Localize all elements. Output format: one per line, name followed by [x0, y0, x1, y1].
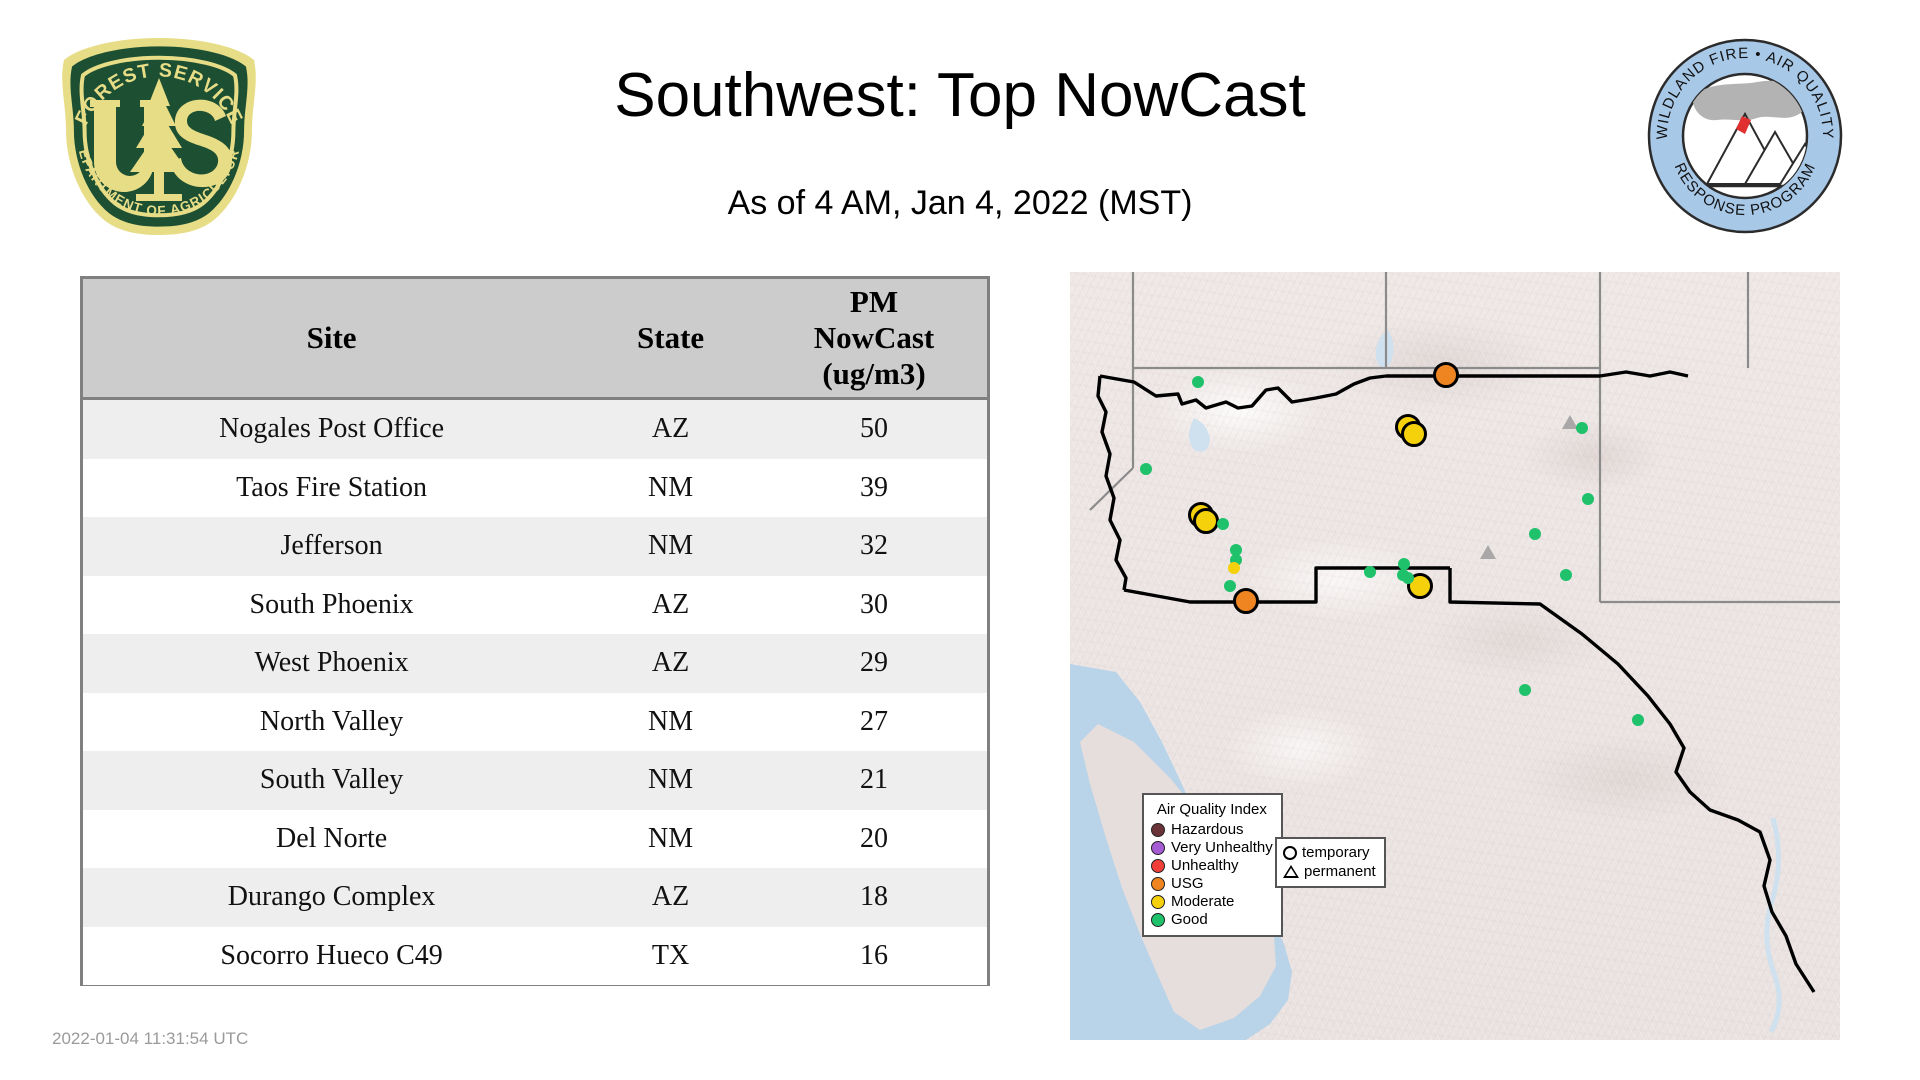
state-cell: AZ: [580, 868, 761, 927]
monitor-marker[interactable]: [1364, 566, 1376, 578]
legend-swatch-icon: [1151, 859, 1165, 873]
legend-swatch-icon: [1151, 877, 1165, 891]
legend-label: Moderate: [1171, 893, 1234, 911]
table-row: South PhoenixAZ30: [83, 576, 987, 635]
us-forest-service-shield-logo: FOREST SERVICE DEPARTMENT OF AGRICULTURE: [54, 34, 264, 239]
monitor-marker[interactable]: [1401, 421, 1427, 447]
site-cell: Nogales Post Office: [83, 399, 580, 459]
southwest-monitor-map[interactable]: Air Quality Index HazardousVery Unhealth…: [1070, 272, 1840, 1040]
pm-nowcast-cell: 50: [761, 399, 987, 459]
legend-row-unhealthy: Unhealthy: [1151, 857, 1273, 875]
table-row: Durango ComplexAZ18: [83, 868, 987, 927]
legend-row-hazardous: Hazardous: [1151, 821, 1273, 839]
monitor-marker[interactable]: [1582, 493, 1594, 505]
state-cell: TX: [580, 927, 761, 986]
monitor-marker[interactable]: [1228, 562, 1240, 574]
legend-row-temporary: temporary: [1283, 843, 1376, 862]
site-cell: Taos Fire Station: [83, 459, 580, 518]
legend-swatch-icon: [1151, 895, 1165, 909]
state-cell: NM: [580, 459, 761, 518]
table-row: South ValleyNM21: [83, 751, 987, 810]
column-header-site: Site: [83, 279, 580, 399]
pm-nowcast-cell: 18: [761, 868, 987, 927]
pm-nowcast-cell: 27: [761, 693, 987, 752]
legend-row-very-unhealthy: Very Unhealthy: [1151, 839, 1273, 857]
legend-title: Air Quality Index: [1151, 800, 1273, 819]
pm-nowcast-cell: 20: [761, 810, 987, 869]
pm-nowcast-cell: 16: [761, 927, 987, 986]
legend-label: Very Unhealthy: [1171, 839, 1273, 857]
page-title: Southwest: Top NowCast: [360, 58, 1560, 134]
monitor-marker[interactable]: [1632, 714, 1644, 726]
legend-label-permanent: permanent: [1304, 863, 1376, 881]
monitor-marker[interactable]: [1233, 588, 1259, 614]
legend-label: USG: [1171, 875, 1204, 893]
legend-label: Good: [1171, 911, 1208, 929]
monitor-marker[interactable]: [1576, 422, 1588, 434]
table-row: Del NorteNM20: [83, 810, 987, 869]
pm-header-line3: (ug/m3): [767, 356, 981, 392]
monitor-marker[interactable]: [1192, 376, 1204, 388]
monitor-marker[interactable]: [1519, 684, 1531, 696]
legend-row-usg: USG: [1151, 875, 1273, 893]
site-cell: Jefferson: [83, 517, 580, 576]
pm-header-line1: PM: [767, 284, 981, 320]
legend-row-permanent: permanent: [1283, 862, 1376, 881]
state-cell: AZ: [580, 576, 761, 635]
site-cell: Socorro Hueco C49: [83, 927, 580, 986]
monitor-marker[interactable]: [1193, 508, 1219, 534]
legend-swatch-icon: [1151, 841, 1165, 855]
legend-label-temporary: temporary: [1302, 844, 1370, 862]
wildland-fire-air-quality-response-program-logo: WILDLAND FIRE • AIR QUALITY RESPONSE PRO…: [1645, 36, 1845, 236]
pm-nowcast-cell: 30: [761, 576, 987, 635]
state-cell: NM: [580, 517, 761, 576]
pm-nowcast-cell: 21: [761, 751, 987, 810]
legend-row-moderate: Moderate: [1151, 893, 1273, 911]
state-cell: NM: [580, 751, 761, 810]
page-subtitle: As of 4 AM, Jan 4, 2022 (MST): [360, 182, 1560, 224]
monitor-marker[interactable]: [1402, 572, 1414, 584]
site-cell: Durango Complex: [83, 868, 580, 927]
water-lake-west: [1189, 418, 1210, 452]
state-cell: NM: [580, 693, 761, 752]
state-cell: AZ: [580, 399, 761, 459]
generation-timestamp: 2022-01-04 11:31:54 UTC: [52, 1028, 248, 1050]
column-header-pm-nowcast: PM NowCast (ug/m3): [761, 279, 987, 399]
pm-nowcast-cell: 32: [761, 517, 987, 576]
monitor-marker[interactable]: [1529, 528, 1541, 540]
table-row: West PhoenixAZ29: [83, 634, 987, 693]
table-row: JeffersonNM32: [83, 517, 987, 576]
monitor-marker[interactable]: [1224, 580, 1236, 592]
pm-nowcast-cell: 39: [761, 459, 987, 518]
triangle-outline-icon: [1283, 865, 1299, 878]
site-cell: Del Norte: [83, 810, 580, 869]
legend-swatch-icon: [1151, 823, 1165, 837]
table-row: Nogales Post OfficeAZ50: [83, 399, 987, 459]
pm-nowcast-cell: 29: [761, 634, 987, 693]
table-row: Taos Fire StationNM39: [83, 459, 987, 518]
table-row: Socorro Hueco C49TX16: [83, 927, 987, 986]
site-cell: West Phoenix: [83, 634, 580, 693]
monitor-marker[interactable]: [1217, 518, 1229, 530]
monitor-marker[interactable]: [1433, 362, 1459, 388]
permanent-monitor-marker[interactable]: [1480, 545, 1496, 559]
top-nowcast-table: Site State PM NowCast (ug/m3) Nogales Po…: [80, 276, 990, 986]
monitor-marker[interactable]: [1560, 569, 1572, 581]
header: FOREST SERVICE DEPARTMENT OF AGRICULTURE: [0, 0, 1920, 268]
air-quality-index-legend: Air Quality Index HazardousVery Unhealth…: [1142, 793, 1283, 937]
water-river-rio-grande: [1767, 818, 1779, 1032]
legend-label: Hazardous: [1171, 821, 1244, 839]
circle-outline-icon: [1283, 846, 1297, 860]
state-cell: AZ: [580, 634, 761, 693]
site-cell: South Phoenix: [83, 576, 580, 635]
table-row: North ValleyNM27: [83, 693, 987, 752]
site-cell: North Valley: [83, 693, 580, 752]
table-header-row: Site State PM NowCast (ug/m3): [83, 279, 987, 399]
monitor-marker[interactable]: [1140, 463, 1152, 475]
legend-swatch-icon: [1151, 913, 1165, 927]
pm-header-line2: NowCast: [767, 320, 981, 356]
site-cell: South Valley: [83, 751, 580, 810]
monitor-marker[interactable]: [1398, 558, 1410, 570]
legend-row-good: Good: [1151, 911, 1273, 929]
monitor-type-legend: temporary permanent: [1275, 837, 1386, 888]
water-small-lake-north: [1376, 330, 1394, 368]
column-header-state: State: [580, 279, 761, 399]
state-cell: NM: [580, 810, 761, 869]
legend-label: Unhealthy: [1171, 857, 1239, 875]
